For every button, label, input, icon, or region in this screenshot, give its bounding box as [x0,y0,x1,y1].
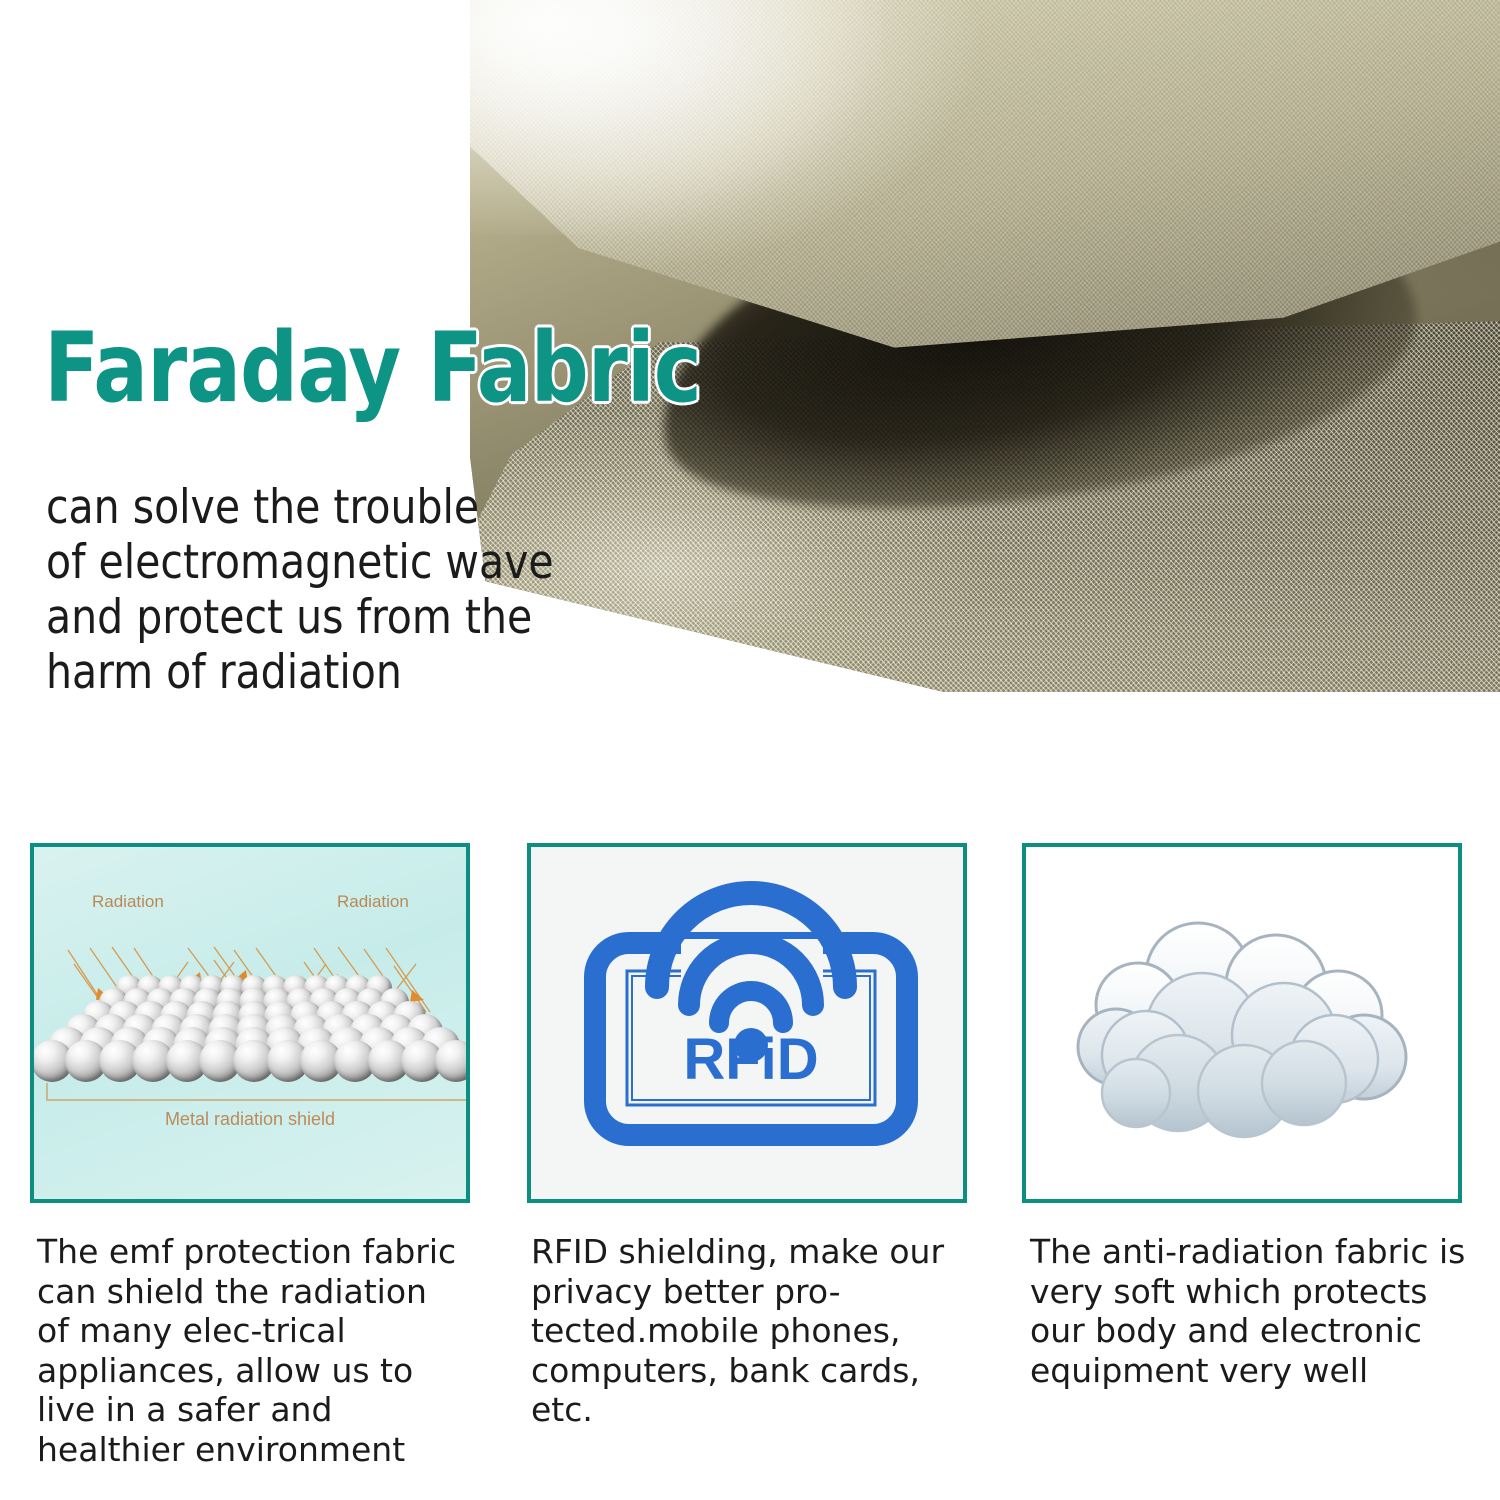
metal-sphere-grid [42,975,466,1095]
card-image-emf-shield: Radiation Radiation [30,843,470,1203]
card-image-rfid: RFiD [527,843,967,1203]
caption-rfid: RFID shielding, make our privacy better … [531,1232,961,1430]
rfid-icon: RFiD [531,847,963,1199]
caption-emf-shield: The emf protection fabric can shield the… [37,1232,467,1470]
page-title: Faraday Fabric [44,318,701,419]
feature-card-images: Radiation Radiation [0,843,1500,1223]
caption-soft-fabric: The anti-radiation fabric is very soft w… [1030,1232,1480,1390]
subtitle-line-3: and protect us from the [46,590,725,645]
subtitle-line-2: of electromagnetic wave [46,535,725,590]
radiation-label-right: Radiation [337,892,409,912]
page-subtitle: can solve the trouble of electromagnetic… [46,480,725,700]
metal-shield-label: Metal radiation shield [34,1109,466,1130]
infographic-page: Faraday Fabric can solve the trouble of … [0,0,1500,1500]
metal-sphere [435,1040,470,1082]
cloud-icon [1026,847,1458,1199]
subtitle-line-1: can solve the trouble [46,480,725,535]
subtitle-line-4: harm of radiation [46,645,725,700]
shield-width-bracket [46,1083,468,1101]
radiation-label-left: Radiation [92,892,164,912]
card-image-cloud [1022,843,1462,1203]
rfid-icon-label: RFiD [683,1027,818,1092]
metal-sphere-row [31,1040,468,1082]
